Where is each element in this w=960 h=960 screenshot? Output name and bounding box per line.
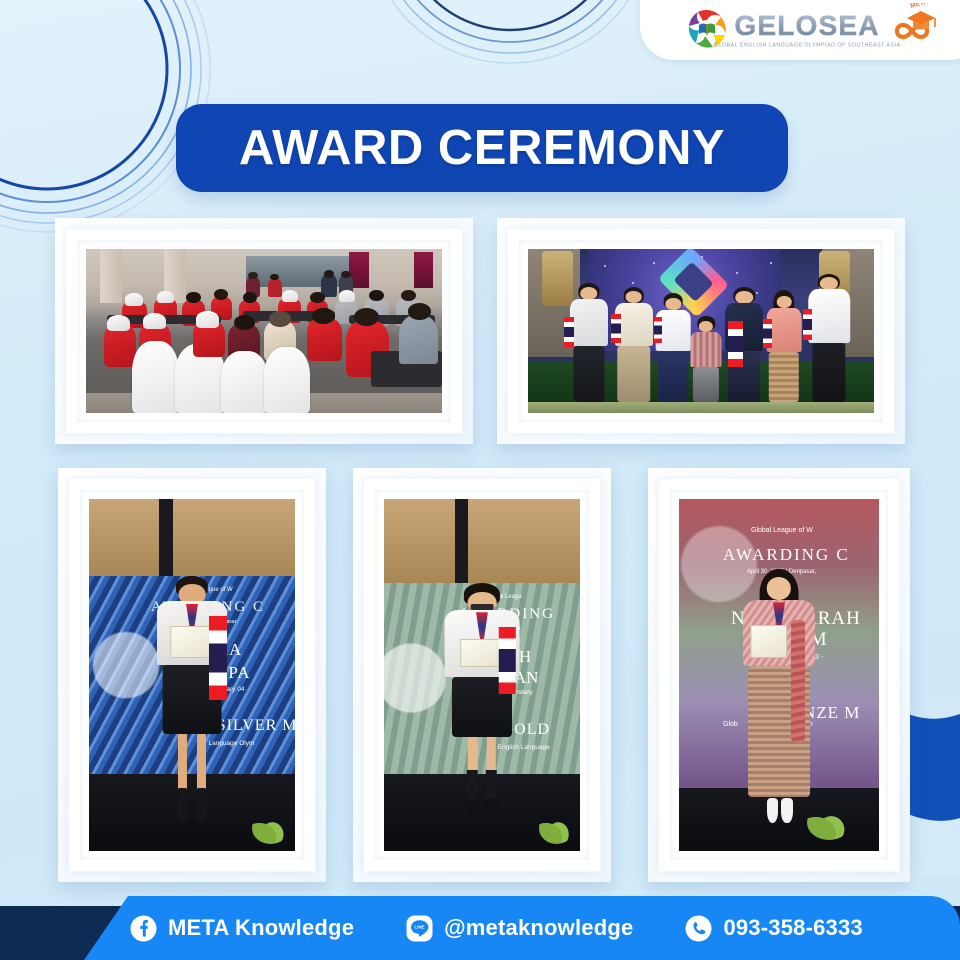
gelosea-subtitle: GLOBAL ENGLISH LANGUAGE OLYMPIAD OF SOUT… bbox=[714, 42, 901, 48]
frame-mat-inner: Global Leagu AWARDING April 30, 2023 | D… bbox=[375, 490, 589, 860]
photo-frame-group-flags bbox=[497, 218, 905, 444]
phone-icon bbox=[685, 915, 712, 942]
facebook-icon bbox=[130, 915, 157, 942]
gelosea-logo: GELOSEA GLOBAL ENGLISH LANGUAGE OLYMPIAD… bbox=[685, 7, 879, 51]
frame-mat: Global Leagu AWARDING April 30, 2023 | D… bbox=[363, 478, 601, 872]
group-with-thai-flags-photo bbox=[528, 249, 874, 413]
poster-canvas: GELOSEA GLOBAL ENGLISH LANGUAGE OLYMPIAD… bbox=[0, 0, 960, 960]
contact-line[interactable]: LINE @metaknowledge bbox=[406, 915, 633, 942]
frame-mat-inner bbox=[519, 240, 883, 422]
bronze-medalist-photo: Global League of W AWARDING C April 30, … bbox=[679, 499, 879, 851]
svg-text:LINE: LINE bbox=[415, 924, 425, 929]
silver-medalist-photo: Global League of W AWARDING C April 30, … bbox=[89, 499, 295, 851]
brand-logo-plate: GELOSEA GLOBAL ENGLISH LANGUAGE OLYMPIAD… bbox=[640, 0, 960, 60]
concentric-rings-top-decoration bbox=[360, 0, 660, 70]
frame-mat: Global League of W AWARDING C April 30, … bbox=[658, 478, 900, 872]
frame-mat-inner bbox=[77, 240, 451, 422]
frame-mat-inner: Global League of W AWARDING C April 30, … bbox=[80, 490, 304, 860]
bronze-backdrop-line-9: Glob bbox=[723, 721, 738, 728]
bronze-backdrop-line-2: AWARDING C bbox=[723, 545, 850, 565]
gold-medalist-photo: Global Leagu AWARDING April 30, 2023 | D… bbox=[384, 499, 580, 851]
contact-facebook[interactable]: META Knowledge bbox=[130, 915, 354, 942]
svg-text:META: META bbox=[909, 3, 928, 10]
footer-contact-bar: META Knowledge LINE @metaknowledge 093-3… bbox=[84, 896, 960, 960]
page-title: AWARD CEREMONY bbox=[239, 120, 725, 176]
contact-phone[interactable]: 093-358-6333 bbox=[685, 915, 862, 942]
photo-frame-bronze-medalist: Global League of W AWARDING C April 30, … bbox=[648, 468, 910, 882]
frame-mat: Global League of W AWARDING C April 30, … bbox=[68, 478, 316, 872]
banquet-hall-photo bbox=[86, 249, 442, 413]
phone-label: 093-358-6333 bbox=[723, 915, 862, 941]
frame-mat bbox=[65, 228, 463, 434]
silver-backdrop-line-7: SILVER M bbox=[217, 717, 295, 735]
line-icon: LINE bbox=[406, 915, 433, 942]
photo-frame-silver-medalist: Global League of W AWARDING C April 30, … bbox=[58, 468, 326, 882]
bronze-backdrop-line-1: Global League of W bbox=[751, 527, 813, 534]
photo-frame-banquet-hall bbox=[55, 218, 473, 444]
frame-mat bbox=[507, 228, 895, 434]
line-label: @metaknowledge bbox=[444, 915, 633, 941]
frame-mat-inner: Global League of W AWARDING C April 30, … bbox=[670, 490, 888, 860]
gelosea-wordmark: GELOSEA bbox=[734, 12, 879, 40]
photo-frame-gold-medalist: Global Leagu AWARDING April 30, 2023 | D… bbox=[353, 468, 611, 882]
facebook-label: META Knowledge bbox=[168, 915, 354, 941]
page-title-banner: AWARD CEREMONY bbox=[176, 104, 788, 192]
